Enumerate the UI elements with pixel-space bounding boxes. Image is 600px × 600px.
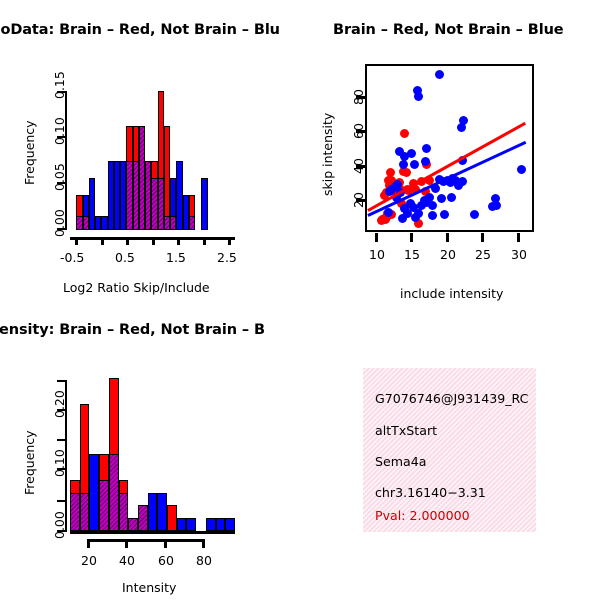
gene-ytick-0.05 xyxy=(57,500,65,502)
histogram-bar-overlap xyxy=(80,493,90,531)
scatter-point xyxy=(414,209,423,218)
gene-info-box: G7076746@J931439_RC altTxStart Sema4a ch… xyxy=(363,368,536,532)
histogram-bar-overlap xyxy=(189,216,195,230)
xtick-0 xyxy=(101,237,104,245)
xtick--0.5 xyxy=(75,237,78,245)
ratio-xtick-label--0.5: -0.5 xyxy=(60,250,84,265)
scatter-point xyxy=(407,149,416,158)
scatter-points-layer xyxy=(367,66,532,230)
info-event-type: altTxStart xyxy=(375,423,437,438)
scatter-point xyxy=(458,177,467,186)
scatter-ytick-label-40: 40 xyxy=(351,158,366,174)
scatter-point xyxy=(402,168,411,177)
histogram-bar xyxy=(157,493,167,531)
scatter-xtick-label-30: 30 xyxy=(511,247,527,262)
scatter-point xyxy=(400,129,409,138)
scatter-point xyxy=(447,193,456,202)
scatter-xtick-label-25: 25 xyxy=(475,247,491,262)
ratio-ytick-label-0: 0.15 xyxy=(52,71,67,99)
gene-ytick-label-0.10: 0.10 xyxy=(52,449,67,477)
gene-ytick-0.15 xyxy=(57,439,65,441)
xtick-2 xyxy=(203,237,206,245)
scatter-point xyxy=(399,160,408,169)
info-locus: chr3.16140−3.31 xyxy=(375,485,486,500)
scatter-point xyxy=(428,211,437,220)
scatter-point xyxy=(428,201,437,210)
scatter-point xyxy=(410,160,419,169)
histogram-bar-overlap xyxy=(109,454,119,531)
gene-xtick-label-80: 80 xyxy=(196,553,212,568)
scatter-point xyxy=(437,194,446,203)
scatter-point xyxy=(470,210,479,219)
gene-ytick-label-0.00: 0.00 xyxy=(52,511,67,539)
scatter-ytick-label-20: 20 xyxy=(351,192,366,208)
gene-intensity-xaxis xyxy=(70,531,235,534)
scatter-point xyxy=(435,70,444,79)
scatter-point xyxy=(492,201,501,210)
scatter-xtick-10 xyxy=(375,233,378,242)
ratio-xtick-label-1.5: 1.5 xyxy=(166,250,186,265)
ratio-xtick-label-2.5: 2.5 xyxy=(217,250,237,265)
scatter-xtick-20 xyxy=(446,233,449,242)
ratio-ytick-label-1: 0.10 xyxy=(52,117,67,145)
ratio-histogram-title: RatioData: Brain – Red, Not Brain – Blu xyxy=(0,22,280,38)
scatter-ylabel: skip intensity xyxy=(320,113,335,196)
histogram-bar xyxy=(148,493,158,531)
ratio-histogram-ylabel: Frequency xyxy=(22,120,37,185)
gene-xtick-label-20: 20 xyxy=(81,553,97,568)
xtick-1 xyxy=(152,237,155,245)
xtick-1.5 xyxy=(177,237,180,245)
scatter-xtick-25 xyxy=(481,233,484,242)
gene-xtick-bar xyxy=(87,539,205,542)
ratio-ytick-label-3: 0.00 xyxy=(52,209,67,237)
info-gene-symbol: Sema4a xyxy=(375,454,426,469)
gene-intensity-ylabel: Frequency xyxy=(22,430,37,495)
scatter-point xyxy=(440,210,449,219)
scatter-xtick-label-15: 15 xyxy=(404,247,420,262)
xtick-0.5 xyxy=(126,237,129,245)
scatter-ytick-label-80: 80 xyxy=(351,89,366,105)
histogram-bar xyxy=(225,518,235,531)
histogram-bar xyxy=(216,518,226,531)
ratio-xtick-label-0.5: 0.5 xyxy=(115,250,135,265)
histogram-bar xyxy=(177,518,187,531)
gene-intensity-title-clip: ne Itensity: Brain – Red, Not Brain – B xyxy=(0,322,300,348)
histogram-bar-overlap xyxy=(138,505,148,531)
xtick-2.5 xyxy=(228,237,231,245)
gene-xtick-label-60: 60 xyxy=(158,553,174,568)
gene-intensity-title: ne Itensity: Brain – Red, Not Brain – B xyxy=(0,322,265,338)
scatter-point xyxy=(422,144,431,153)
scatter-title: Brain – Red, Not Brain – Blue xyxy=(333,22,564,38)
gene-ytick-label-0.20: 0.20 xyxy=(52,390,67,418)
info-probe-id: G7076746@J931439_RC xyxy=(375,391,528,406)
scatter-point xyxy=(459,116,468,125)
scatter-xtick-15 xyxy=(410,233,413,242)
gene-intensity-xlabel: Intensity xyxy=(122,580,176,595)
ratio-ytick-label-2: 0.05 xyxy=(52,163,67,191)
histogram-bar-overlap xyxy=(70,493,80,531)
info-pval: Pval: 2.000000 xyxy=(375,508,470,523)
scatter-xtick-label-20: 20 xyxy=(440,247,456,262)
histogram-bar xyxy=(167,505,177,531)
scatter-ytick-label-60: 60 xyxy=(351,123,366,139)
scatter-xtick-label-10: 10 xyxy=(369,247,385,262)
gene-ytick-0.25 xyxy=(57,380,65,382)
gene-xtick-label-40: 40 xyxy=(119,553,135,568)
histogram-bar xyxy=(186,518,196,531)
scatter-xlabel: include intensity xyxy=(400,286,503,301)
histogram-bar xyxy=(201,178,207,230)
scatter-point xyxy=(517,165,526,174)
histogram-bar-overlap xyxy=(119,493,129,531)
scatter-point xyxy=(421,157,430,166)
histogram-bar-overlap xyxy=(99,480,109,531)
histogram-bar-overlap xyxy=(128,518,138,531)
scatter-point xyxy=(398,214,407,223)
scatter-xtick-30 xyxy=(517,233,520,242)
histogram-bar xyxy=(89,454,99,531)
ratio-histogram-title-clip: RatioData: Brain – Red, Not Brain – Blu xyxy=(0,22,300,48)
ratio-histogram-xlabel: Log2 Ratio Skip/Include xyxy=(63,280,210,295)
histogram-bar xyxy=(206,518,216,531)
